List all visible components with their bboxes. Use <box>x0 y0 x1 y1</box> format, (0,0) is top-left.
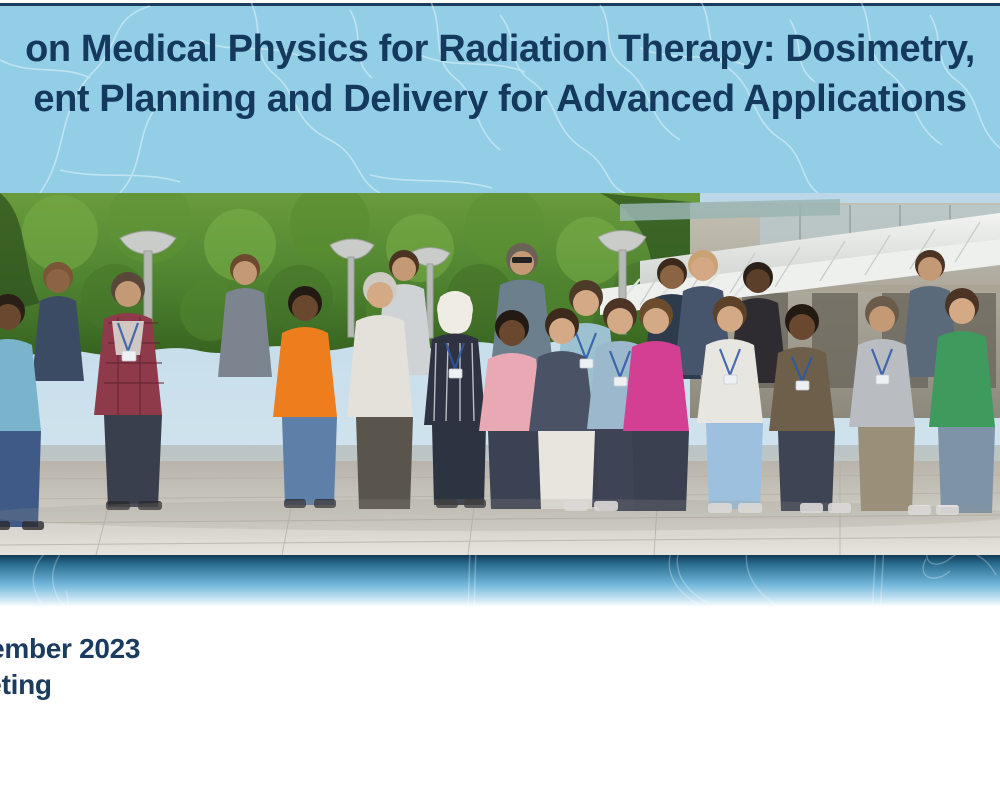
event-location-line: aly <box>0 703 248 739</box>
event-date-line: eptember 2023 <box>0 631 248 667</box>
event-meeting-line: Meeting <box>0 667 248 703</box>
gradient-divider-band <box>0 555 1000 607</box>
divider-decorative-line-art <box>0 555 1000 607</box>
page-title-line-1: on Medical Physics for Radiation Therapy… <box>0 24 1000 74</box>
footer: eptember 2023 Meeting aly aifm ASSOCIAZI… <box>0 607 1000 800</box>
group-photo-illustration <box>0 193 1000 555</box>
page-title-line-2: ent Planning and Delivery for Advanced A… <box>0 74 1000 124</box>
header-band: on Medical Physics for Radiation Therapy… <box>0 0 1000 193</box>
conference-poster: on Medical Physics for Radiation Therapy… <box>0 0 1000 800</box>
page-title: on Medical Physics for Radiation Therapy… <box>0 24 1000 124</box>
group-photo <box>0 193 1000 555</box>
event-details: eptember 2023 Meeting aly <box>0 631 248 738</box>
